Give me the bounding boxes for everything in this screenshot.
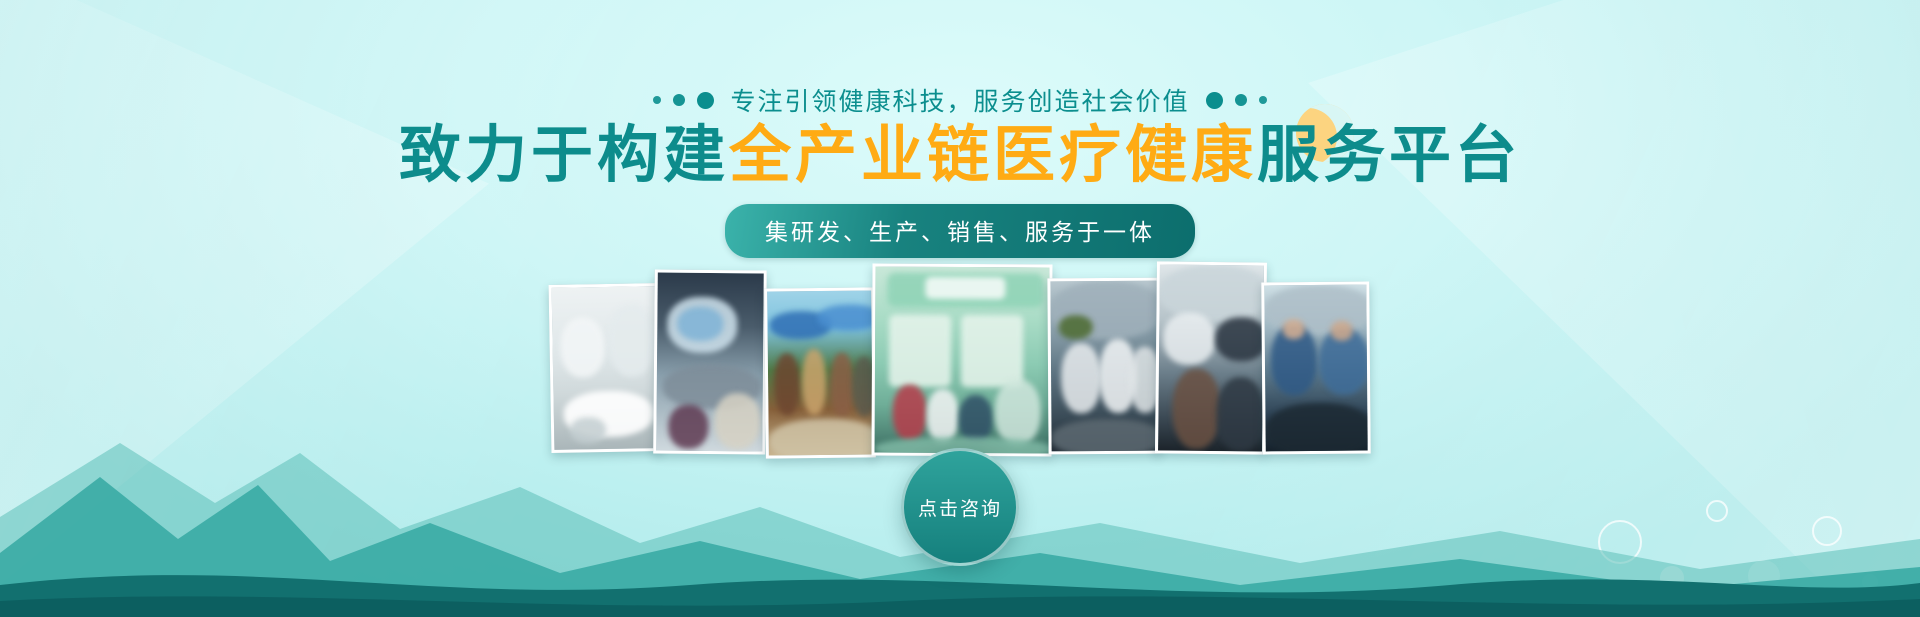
medical-staff-outdoor-checkup — [1050, 281, 1157, 452]
subtitle-pill-wrap: 集研发、生产、销售、服务于一体 — [0, 204, 1920, 258]
dot-small-icon — [1259, 96, 1267, 104]
dot-medium-icon — [673, 94, 685, 106]
health-kiosk-screening-station — [656, 273, 764, 452]
tagline-text: 专注引领健康科技，服务创造社会价值 — [730, 82, 1189, 118]
hero-banner: 专注引领健康科技，服务创造社会价值 致力于构建全产业链医疗健康服务平台 集研发、… — [0, 0, 1920, 617]
technician-operating-instrument — [1158, 264, 1264, 451]
tagline-row: 专注引领健康科技，服务创造社会价值 — [0, 82, 1920, 118]
gallery-card[interactable] — [1047, 278, 1160, 455]
subtitle-pill: 集研发、生产、销售、服务于一体 — [725, 204, 1195, 258]
tagline-dots-right — [1206, 92, 1267, 109]
headline-highlight: 全产业链医疗健康 — [729, 118, 1257, 191]
dot-medium-icon — [1235, 94, 1247, 106]
gallery-card[interactable] — [549, 283, 662, 453]
consult-button[interactable]: 点击咨询 — [901, 448, 1019, 566]
outdoor-community-health-event — [767, 290, 873, 455]
gallery-card[interactable] — [764, 287, 876, 458]
tagline-dots-left — [653, 92, 714, 109]
dot-large-icon — [1206, 92, 1223, 109]
headline-tail: 服务平台 — [1257, 118, 1521, 191]
gallery-card[interactable] — [653, 270, 767, 455]
production-line-inspection — [1294, 291, 1366, 446]
page-title: 致力于构建全产业链医疗健康服务平台 — [0, 122, 1920, 189]
headline-lead: 致力于构建 — [399, 118, 729, 191]
dot-small-icon — [653, 96, 661, 104]
dot-large-icon — [697, 92, 714, 109]
consult-button-label: 点击咨询 — [918, 494, 1002, 521]
photo-gallery-fan — [550, 262, 1370, 462]
laboratory-equipment-room — [552, 286, 659, 450]
health-cabin-consultation-booth — [875, 267, 1050, 454]
gallery-card[interactable] — [1155, 261, 1267, 454]
gallery-card[interactable] — [871, 264, 1052, 457]
